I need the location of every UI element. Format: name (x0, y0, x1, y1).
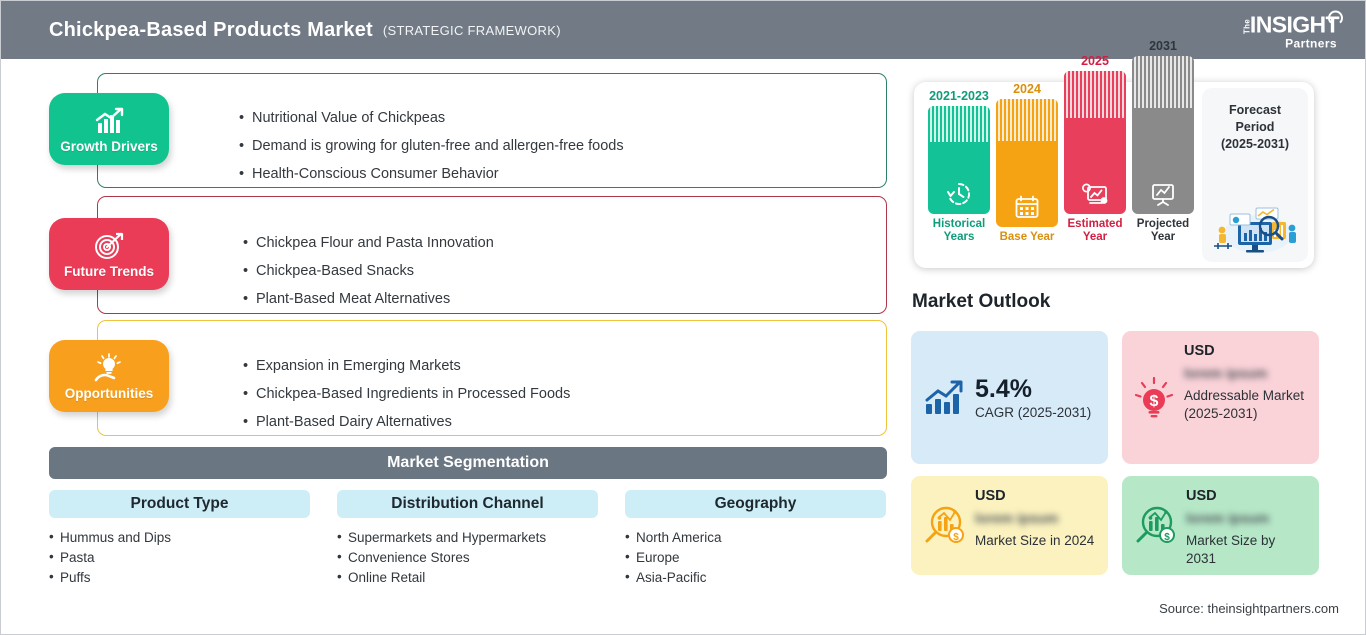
pillar-bullet-list: Expansion in Emerging Markets Chickpea-B… (243, 352, 570, 436)
timeline-label: Historical Years (928, 218, 990, 244)
insight-partners-logo: The INSIGHT Partners (1240, 11, 1343, 50)
timeline-bar (1132, 56, 1194, 214)
timeline-bar (996, 99, 1058, 227)
card-label: Market Size in 2024 (975, 532, 1097, 550)
magnifier-chart-dollar-icon: $ (1133, 488, 1177, 563)
clock-history-icon (928, 181, 990, 207)
timeline-label: Projected Year (1132, 218, 1194, 244)
left-column: Growth Drivers Nutritional Value of Chic… (1, 59, 906, 635)
timeline-bar-stripes (996, 99, 1058, 141)
list-item: Asia-Pacific (625, 568, 886, 588)
market-segmentation-title: Market Segmentation (49, 447, 887, 479)
svg-text:$: $ (953, 532, 959, 543)
card-body: USD lorem ipsum Addressable Market (2025… (1184, 343, 1308, 452)
badge-opportunities[interactable]: Opportunities (49, 340, 169, 412)
forecast-period-panel: Forecast Period (2025-2031) (1202, 88, 1308, 262)
redacted-value: lorem ipsum (1186, 510, 1308, 527)
analytics-gear-icon (1064, 181, 1126, 207)
card-addressable-market[interactable]: $ USD lorem ipsum Addressable Market (20… (1122, 331, 1319, 464)
segmentation-column-header: Geography (625, 490, 886, 518)
segmentation-columns: Product Type Hummus and Dips Pasta Puffs… (49, 490, 887, 588)
list-item: Chickpea-Based Snacks (243, 257, 494, 285)
source-attribution: Source: theinsightpartners.com (1159, 601, 1339, 616)
list-item: Hummus and Dips (49, 528, 310, 548)
card-market-size-2031[interactable]: $ USD lorem ipsum Market Size by 2031 (1122, 476, 1319, 575)
market-outlook-title: Market Outlook (912, 291, 1050, 313)
lightbulb-dollar-icon: $ (1133, 343, 1175, 452)
forecast-line-1: Forecast (1202, 102, 1308, 119)
list-item: Pasta (49, 548, 310, 568)
target-dart-icon (91, 230, 127, 262)
forecast-period-text: Forecast Period (2025-2031) (1202, 88, 1308, 153)
badge-growth-drivers[interactable]: Growth Drivers (49, 93, 169, 165)
page-subtitle: (STRATEGIC FRAMEWORK) (383, 23, 561, 38)
timeline-year: 2024 (996, 82, 1058, 96)
forecast-line-3: (2025-2031) (1202, 136, 1308, 153)
list-item: Online Retail (337, 568, 598, 588)
page-title: Chickpea-Based Products Market (49, 19, 373, 42)
currency-label: USD (1184, 343, 1308, 359)
redacted-value: lorem ipsum (975, 510, 1097, 527)
list-item: Convenience Stores (337, 548, 598, 568)
data-analysis-illustration (1208, 200, 1302, 256)
logo-the-text: The (1243, 19, 1251, 34)
timeline-year: 2025 (1064, 54, 1126, 68)
forecast-timeline-panel: 2021-2023 Historical Years 2024 (914, 82, 1314, 268)
timeline-column-projected: 2031 Projected Year (1132, 39, 1194, 244)
redacted-value: lorem ipsum (1184, 365, 1308, 382)
lightbulb-hand-icon (91, 352, 127, 384)
card-body: USD lorem ipsum Market Size in 2024 (975, 488, 1097, 563)
segmentation-list: Hummus and Dips Pasta Puffs (49, 528, 310, 588)
timeline-label: Base Year (996, 231, 1058, 244)
timeline-bar-stripes (1064, 71, 1126, 118)
cagr-value: 5.4% (975, 376, 1097, 402)
list-item: Plant-Based Meat Alternatives (243, 285, 494, 313)
bar-chart-arrow-icon (922, 378, 966, 418)
list-item: Chickpea-Based Ingredients in Processed … (243, 380, 570, 408)
bar-chart-growth-icon (91, 105, 127, 137)
card-body: 5.4% CAGR (2025-2031) (975, 376, 1097, 420)
segmentation-list: Supermarkets and Hypermarkets Convenienc… (337, 528, 598, 588)
card-market-size-2024[interactable]: $ USD lorem ipsum Market Size in 2024 (911, 476, 1108, 575)
svg-text:$: $ (1164, 532, 1170, 543)
card-label: Addressable Market (2025-2031) (1184, 387, 1308, 423)
timeline-column-historical: 2021-2023 Historical Years (928, 89, 990, 244)
logo-insight-text: INSIGHT (1250, 14, 1339, 37)
pillar-bullet-list: Nutritional Value of Chickpeas Demand is… (239, 104, 624, 188)
logo-ring-icon (1328, 11, 1343, 26)
list-item: Plant-Based Dairy Alternatives (243, 408, 570, 436)
magnifier-chart-dollar-icon: $ (922, 488, 966, 563)
list-item: Expansion in Emerging Markets (243, 352, 570, 380)
timeline-column-estimated: 2025 Estimated Year (1064, 54, 1126, 244)
timeline-bar-stripes (1132, 56, 1194, 108)
segmentation-list: North America Europe Asia-Pacific (625, 528, 886, 588)
badge-label: Growth Drivers (60, 139, 158, 154)
market-outlook-cards: 5.4% CAGR (2025-2031) $ USD lorem ipsum (911, 331, 1319, 575)
card-label: Market Size by 2031 (1186, 532, 1308, 568)
badge-label: Future Trends (64, 264, 154, 279)
calendar-icon (996, 194, 1058, 220)
currency-label: USD (975, 488, 1097, 504)
pillar-bullet-list: Chickpea Flour and Pasta Innovation Chic… (243, 229, 494, 313)
list-item: Europe (625, 548, 886, 568)
badge-label: Opportunities (65, 386, 154, 401)
list-item: North America (625, 528, 886, 548)
timeline-column-base: 2024 Base Year (996, 82, 1058, 244)
forecast-line-2: Period (1202, 119, 1308, 136)
timeline-bar (1064, 71, 1126, 214)
cagr-label: CAGR (2025-2031) (975, 405, 1097, 420)
segmentation-column-distribution-channel: Distribution Channel Supermarkets and Hy… (337, 490, 598, 588)
list-item: Supermarkets and Hypermarkets (337, 528, 598, 548)
timeline-year: 2031 (1132, 39, 1194, 53)
segmentation-column-geography: Geography North America Europe Asia-Paci… (625, 490, 886, 588)
list-item: Nutritional Value of Chickpeas (239, 104, 624, 132)
segmentation-column-product-type: Product Type Hummus and Dips Pasta Puffs (49, 490, 310, 588)
timeline-year: 2021-2023 (928, 89, 990, 103)
badge-future-trends[interactable]: Future Trends (49, 218, 169, 290)
currency-label: USD (1186, 488, 1308, 504)
card-body: USD lorem ipsum Market Size by 2031 (1186, 488, 1308, 563)
segmentation-column-header: Distribution Channel (337, 490, 598, 518)
presentation-chart-icon (1132, 181, 1194, 207)
list-item: Chickpea Flour and Pasta Innovation (243, 229, 494, 257)
svg-text:$: $ (1150, 393, 1159, 410)
list-item: Health-Conscious Consumer Behavior (239, 160, 624, 188)
timeline-bars: 2021-2023 Historical Years 2024 (928, 82, 1198, 268)
card-cagr[interactable]: 5.4% CAGR (2025-2031) (911, 331, 1108, 464)
infographic-page: Chickpea-Based Products Market (STRATEGI… (0, 0, 1366, 635)
list-item: Puffs (49, 568, 310, 588)
timeline-label: Estimated Year (1064, 218, 1126, 244)
list-item: Demand is growing for gluten-free and al… (239, 132, 624, 160)
timeline-bar-stripes (928, 106, 990, 142)
segmentation-column-header: Product Type (49, 490, 310, 518)
logo-partners-text: Partners (1285, 38, 1337, 50)
timeline-bar (928, 106, 990, 214)
